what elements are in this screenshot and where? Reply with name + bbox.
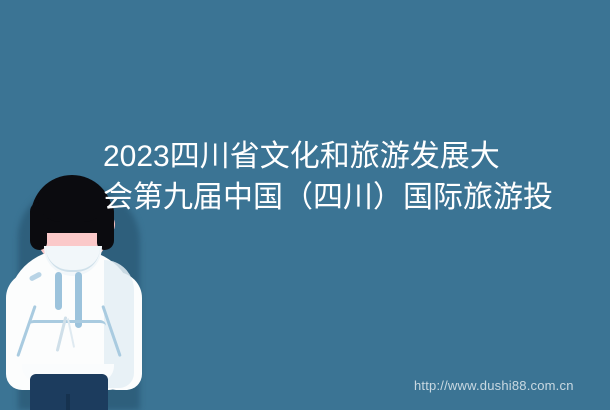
drawstring-left-shape [55, 272, 62, 310]
kangaroo-pocket-shape [28, 320, 106, 365]
image-canvas: 2023四川省文化和旅游发展大 会第九届中国（四川）国际旅游投 http://w… [0, 0, 610, 410]
headline-line-2: 会第九届中国（四川）国际旅游投 [103, 177, 598, 218]
watermark-url: http://www.dushi88.com.cn [414, 378, 574, 393]
headline-line-1: 2023四川省文化和旅游发展大 [103, 136, 598, 177]
pants-leg-gap-shape [66, 394, 70, 410]
page-title: 2023四川省文化和旅游发展大 会第九届中国（四川）国际旅游投 [103, 136, 598, 218]
